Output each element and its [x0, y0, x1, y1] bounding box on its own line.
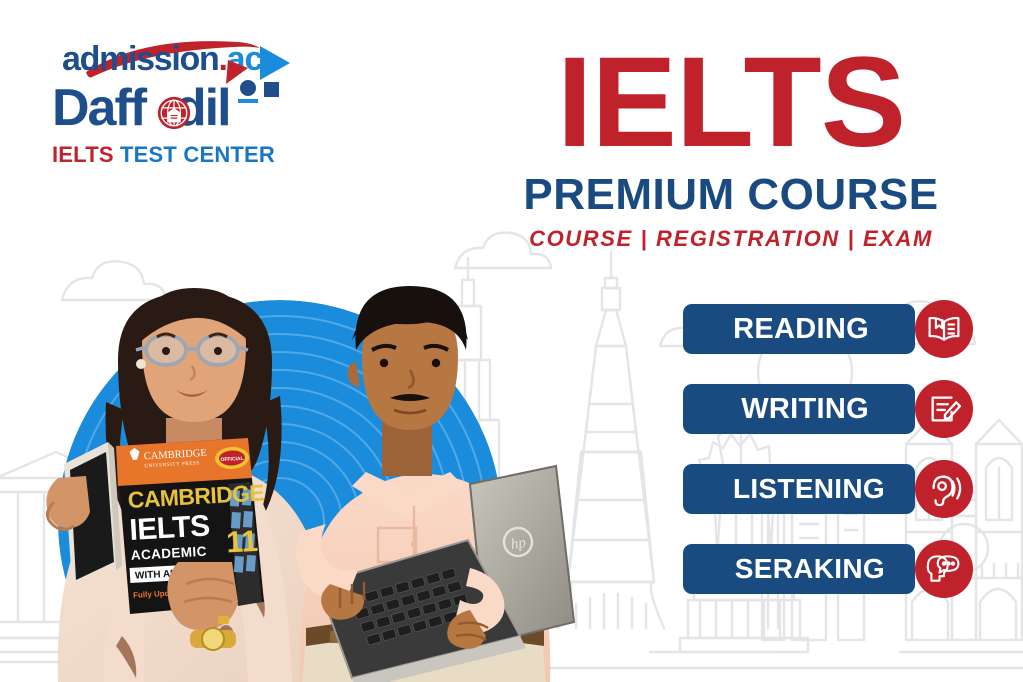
skill-label-reading[interactable]: READING: [683, 304, 915, 354]
male-student-laptop: hp: [296, 286, 574, 682]
svg-text:OFFICIAL: OFFICIAL: [220, 456, 243, 463]
ielts-promo-banner: CAMBRIDGE UNIVERSITY PRESS OFFICIAL CAMB…: [0, 0, 1023, 682]
triangle-right-icon: [260, 46, 290, 80]
skill-label-writing[interactable]: WRITING: [683, 384, 915, 434]
open-book-icon: [915, 300, 973, 358]
page-title: IELTS: [491, 42, 971, 164]
skill-item-speaking[interactable]: SERAKING: [683, 540, 973, 598]
skill-label-listening[interactable]: LISTENING: [683, 464, 915, 514]
hp-logo-icon: hp: [502, 526, 534, 558]
svg-text:11: 11: [225, 525, 259, 560]
blue-circle-graphic: [18, 300, 578, 682]
wristwatch: [190, 628, 236, 650]
svg-text:UNIVERSITY PRESS: UNIVERSITY PRESS: [144, 461, 200, 469]
students-photo: CAMBRIDGE UNIVERSITY PRESS OFFICIAL CAMB…: [0, 232, 600, 682]
svg-text:Fully Updated Version: Fully Updated Version: [133, 586, 218, 600]
logo-tagline: IELTS TEST CENTER: [52, 142, 312, 168]
globe-emblem-icon: [157, 96, 191, 130]
headline-block: IELTS PREMIUM COURSE COURSE | REGISTRATI…: [491, 42, 971, 252]
skill-label-speaking[interactable]: SERAKING: [683, 544, 915, 594]
speech-head-icon: [915, 540, 973, 598]
svg-text:IELTS: IELTS: [129, 510, 211, 547]
logo-square: [264, 82, 279, 97]
page-subtitle: PREMIUM COURSE: [491, 170, 971, 220]
logo-daffodil-prefix: Daff: [52, 79, 145, 137]
logo-bar: [238, 99, 258, 103]
logo-tagline-center: TEST CENTER: [120, 142, 275, 167]
logo-admission-word: admission: [62, 40, 218, 78]
logo-top-row: admission.ac: [52, 38, 312, 84]
pencil-paper-icon: [915, 380, 973, 438]
skills-list: READING WRITING: [683, 300, 973, 620]
skill-item-writing[interactable]: WRITING: [683, 380, 973, 438]
logo-arrows: [220, 34, 312, 104]
empire-state-building: [425, 258, 511, 584]
page-tagline: COURSE | REGISTRATION | EXAM: [491, 226, 971, 252]
skill-item-reading[interactable]: READING: [683, 300, 973, 358]
svg-text:hp: hp: [510, 535, 528, 553]
brand-logo[interactable]: admission.ac Daffodil I: [52, 38, 312, 168]
eiffel-tower: [558, 252, 664, 628]
logo-tagline-ielts: IELTS: [52, 142, 114, 167]
female-student-reading: CAMBRIDGE UNIVERSITY PRESS OFFICIAL CAMB…: [46, 288, 330, 682]
svg-text:CAMBRIDGE: CAMBRIDGE: [127, 479, 265, 513]
hp-laptop: hp: [318, 466, 574, 682]
svg-text:WITH ANSWERS: WITH ANSWERS: [135, 566, 215, 581]
skill-item-listening[interactable]: LISTENING: [683, 460, 973, 518]
triangle-left-icon: [226, 60, 248, 84]
svg-text:ACADEMIC: ACADEMIC: [130, 544, 207, 563]
svg-text:CAMBRIDGE: CAMBRIDGE: [144, 448, 208, 463]
cloud-icon: [62, 261, 166, 300]
parthenon-columns: [0, 452, 120, 652]
logo-dot-circle: [240, 80, 256, 96]
ear-sound-icon: [915, 460, 973, 518]
cambridge-ielts-book: CAMBRIDGE UNIVERSITY PRESS OFFICIAL CAMB…: [64, 438, 270, 614]
